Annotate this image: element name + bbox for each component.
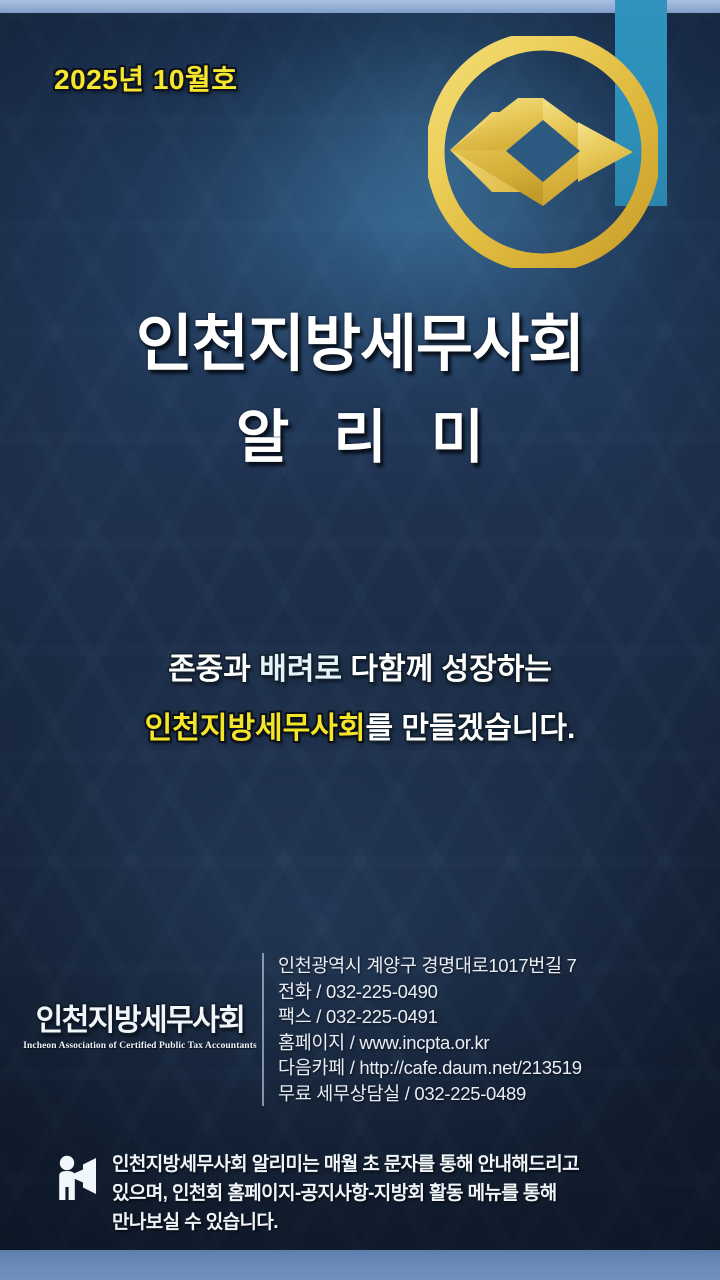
- notice-block: 인천지방세무사회 알리미는 매월 초 문자를 통해 안내해드리고 있으며, 인천…: [56, 1150, 676, 1237]
- association-emblem-icon: [428, 36, 658, 268]
- top-accent-bar: [0, 0, 720, 13]
- footer-logo-korean-name: 인천지방세무사회: [22, 1006, 258, 1036]
- slogan-line-2: 인천지방세무사회를 만들겠습니다.: [0, 714, 720, 744]
- contact-daum-cafe[interactable]: 다음카페 / http://cafe.daum.net/213519: [278, 1055, 582, 1081]
- notice-line-3: 만나보실 수 있습니다.: [112, 1208, 579, 1237]
- notice-text: 인천지방세무사회 알리미는 매월 초 문자를 통해 안내해드리고 있으며, 인천…: [112, 1150, 579, 1237]
- bottom-accent-bar: [0, 1250, 720, 1280]
- newsletter-poster: 2025년 10월호: [0, 0, 720, 1280]
- contact-phone: 전화 / 032-225-0490: [278, 979, 582, 1005]
- notice-line-1: 인천지방세무사회 알리미는 매월 초 문자를 통해 안내해드리고: [112, 1150, 579, 1179]
- slogan-l1-part1: 존중과: [168, 653, 259, 686]
- contact-free-consult: 무료 세무상담실 / 032-225-0489: [278, 1081, 582, 1107]
- contact-address: 인천광역시 계양구 경명대로1017번길 7: [278, 953, 582, 979]
- slogan-l1-part3: 다함께 성장하는: [342, 653, 552, 686]
- headline-block: 인천지방세무사회 알 리 미: [0, 312, 720, 470]
- footer-logo: 인천지방세무사회 Incheon Association of Certifie…: [22, 1006, 258, 1051]
- contact-info-block: 인천광역시 계양구 경명대로1017번길 7 전화 / 032-225-0490…: [262, 953, 582, 1106]
- slogan-line-1: 존중과 배려로 다함께 성장하는: [0, 655, 720, 685]
- contact-fax: 팩스 / 032-225-0491: [278, 1004, 582, 1030]
- slogan-l2-rest: 를 만들겠습니다.: [365, 712, 575, 745]
- issue-date-label: 2025년 10월호: [54, 58, 238, 98]
- page-subtitle: 알 리 미: [0, 407, 720, 470]
- slogan-l2-highlight: 인천지방세무사회: [145, 712, 366, 745]
- megaphone-icon: [56, 1154, 98, 1202]
- footer-logo-english-name: Incheon Association of Certified Public …: [22, 1041, 258, 1051]
- page-title: 인천지방세무사회: [0, 312, 720, 379]
- slogan-l1-part2: 배려로: [259, 653, 342, 686]
- contact-homepage[interactable]: 홈페이지 / www.incpta.or.kr: [278, 1030, 582, 1056]
- notice-line-2: 있으며, 인천회 홈페이지-공지사항-지방회 활동 메뉴를 통해: [112, 1179, 579, 1208]
- slogan-block: 존중과 배려로 다함께 성장하는 인천지방세무사회를 만들겠습니다.: [0, 655, 720, 744]
